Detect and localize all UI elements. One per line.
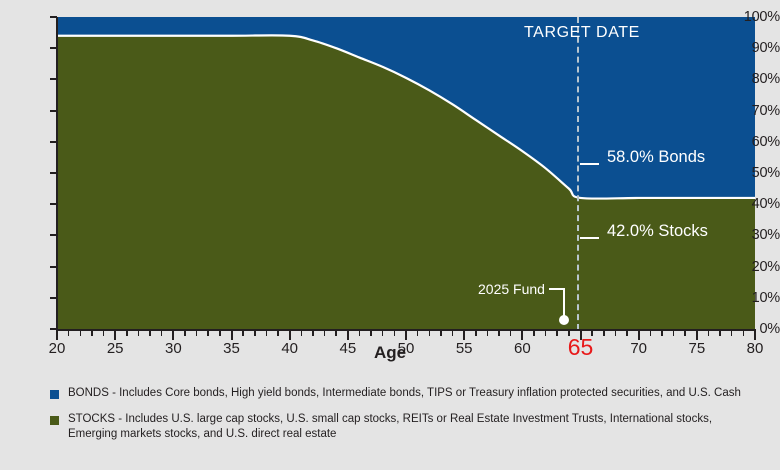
x-minor-tick-71	[650, 331, 652, 336]
target-date-annotation: TARGET DATE	[524, 24, 640, 42]
y-tick-mark-100	[50, 16, 57, 18]
x-minor-tick-28	[149, 331, 151, 336]
legend-item-stocks: STOCKS - Includes U.S. large cap stocks,…	[50, 412, 760, 442]
y-tick-mark-50	[50, 172, 57, 174]
x-major-tick-25	[114, 331, 116, 340]
x-major-tick-75	[696, 331, 698, 340]
x-minor-tick-72	[661, 331, 663, 336]
x-minor-tick-58	[498, 331, 500, 336]
x-minor-tick-53	[440, 331, 442, 336]
x-minor-tick-67	[603, 331, 605, 336]
y-tick-mark-40	[50, 203, 57, 205]
y-tick-label-100: 100%	[728, 9, 780, 25]
legend-label-bonds: BONDS - Includes Core bonds, High yield …	[68, 386, 741, 401]
x-major-tick-45	[347, 331, 349, 340]
x-minor-tick-56	[475, 331, 477, 336]
x-major-tick-40	[289, 331, 291, 340]
x-major-tick-20	[56, 331, 58, 340]
x-minor-tick-61	[533, 331, 535, 336]
y-tick-label-70: 70%	[728, 103, 780, 119]
x-minor-tick-41	[301, 331, 303, 336]
bonds-leader-line	[580, 163, 599, 165]
x-minor-tick-38	[266, 331, 268, 336]
fund-leader-vertical	[563, 288, 565, 318]
x-minor-tick-68	[615, 331, 617, 336]
x-minor-tick-34	[219, 331, 221, 336]
x-minor-tick-27	[138, 331, 140, 336]
fund-leader-horizontal	[549, 288, 564, 290]
x-minor-tick-22	[80, 331, 82, 336]
x-minor-tick-54	[452, 331, 454, 336]
y-tick-mark-10	[50, 297, 57, 299]
legend: BONDS - Includes Core bonds, High yield …	[50, 386, 760, 453]
x-minor-tick-74	[684, 331, 686, 336]
x-minor-tick-31	[184, 331, 186, 336]
x-minor-tick-47	[370, 331, 372, 336]
x-minor-tick-21	[68, 331, 70, 336]
y-tick-label-10: 10%	[728, 290, 780, 306]
x-minor-tick-78	[731, 331, 733, 336]
y-tick-label-20: 20%	[728, 259, 780, 275]
x-minor-tick-42	[312, 331, 314, 336]
x-axis-title: Age	[0, 343, 780, 363]
x-minor-tick-59	[510, 331, 512, 336]
x-minor-tick-76	[708, 331, 710, 336]
x-minor-tick-23	[91, 331, 93, 336]
x-minor-tick-44	[335, 331, 337, 336]
y-tick-label-50: 50%	[728, 165, 780, 181]
bonds-value-annotation: 58.0% Bonds	[607, 148, 705, 167]
x-major-tick-80	[754, 331, 756, 340]
x-major-tick-35	[231, 331, 233, 340]
x-minor-tick-63	[556, 331, 558, 336]
x-minor-tick-24	[103, 331, 105, 336]
y-tick-mark-60	[50, 141, 57, 143]
x-minor-tick-79	[743, 331, 745, 336]
x-major-tick-30	[172, 331, 174, 340]
legend-label-stocks: STOCKS - Includes U.S. large cap stocks,…	[68, 412, 748, 442]
x-minor-tick-69	[626, 331, 628, 336]
legend-swatch-bonds	[50, 390, 59, 399]
target-date-line	[577, 17, 579, 330]
x-minor-tick-36	[242, 331, 244, 336]
fund-marker-label: 2025 Fund	[478, 281, 545, 297]
y-tick-label-30: 30%	[728, 227, 780, 243]
x-major-tick-55	[463, 331, 465, 340]
x-minor-tick-49	[394, 331, 396, 336]
area-chart-svg	[57, 17, 755, 329]
x-minor-tick-57	[487, 331, 489, 336]
x-minor-tick-33	[207, 331, 209, 336]
plot-area	[57, 17, 755, 329]
stocks-value-annotation: 42.0% Stocks	[607, 222, 708, 241]
y-tick-label-80: 80%	[728, 71, 780, 87]
y-tick-mark-80	[50, 78, 57, 80]
x-major-tick-70	[638, 331, 640, 340]
x-minor-tick-29	[161, 331, 163, 336]
x-major-tick-60	[521, 331, 523, 340]
x-minor-tick-77	[719, 331, 721, 336]
x-minor-tick-39	[277, 331, 279, 336]
x-minor-tick-73	[673, 331, 675, 336]
x-minor-tick-43	[324, 331, 326, 336]
x-minor-tick-48	[382, 331, 384, 336]
x-minor-tick-52	[429, 331, 431, 336]
y-tick-label-60: 60%	[728, 134, 780, 150]
fund-marker-dot	[559, 315, 569, 325]
stocks-leader-line	[580, 237, 599, 239]
x-minor-tick-62	[545, 331, 547, 336]
x-minor-tick-37	[254, 331, 256, 336]
legend-item-bonds: BONDS - Includes Core bonds, High yield …	[50, 386, 760, 401]
y-tick-label-40: 40%	[728, 196, 780, 212]
x-minor-tick-51	[417, 331, 419, 336]
legend-swatch-stocks	[50, 416, 59, 425]
y-tick-mark-90	[50, 47, 57, 49]
glide-path-chart: TARGET DATE 58.0% Bonds 42.0% Stocks 202…	[0, 0, 780, 470]
y-tick-mark-20	[50, 266, 57, 268]
y-tick-mark-30	[50, 234, 57, 236]
y-tick-label-90: 90%	[728, 40, 780, 56]
y-tick-mark-70	[50, 110, 57, 112]
x-minor-tick-26	[126, 331, 128, 336]
x-major-tick-50	[405, 331, 407, 340]
x-minor-tick-32	[196, 331, 198, 336]
x-minor-tick-46	[359, 331, 361, 336]
